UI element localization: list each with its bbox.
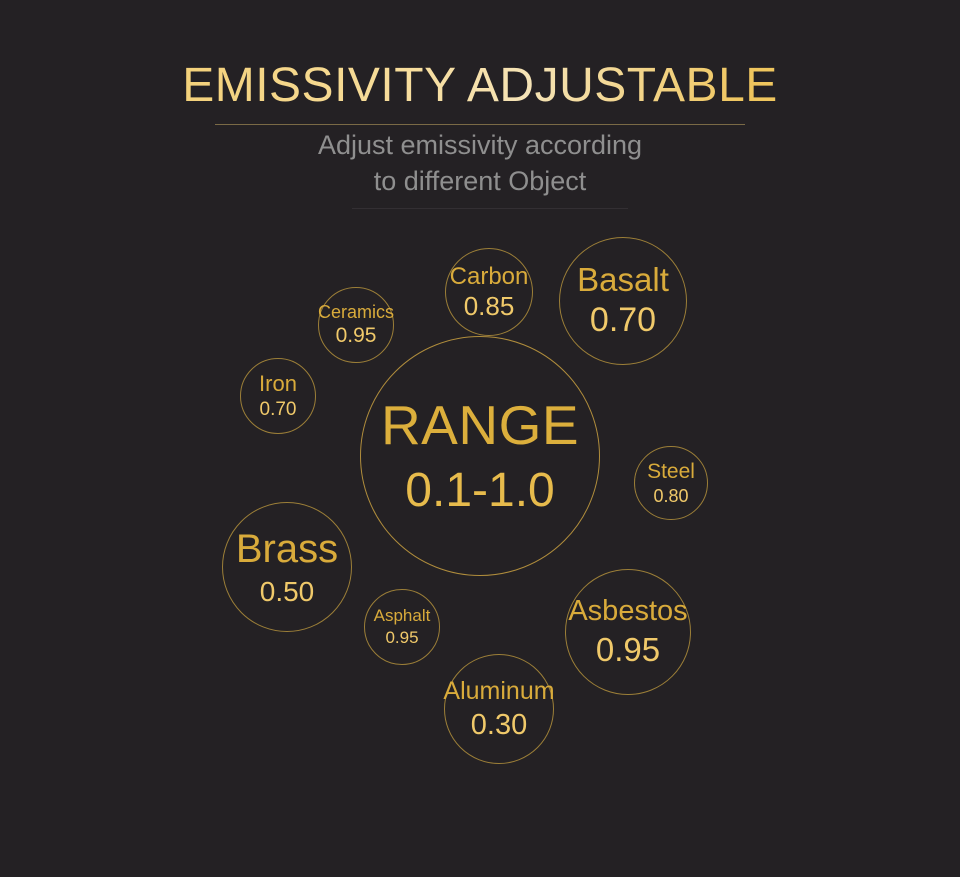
material-bubble-ceramics[interactable]: Ceramics0.95 [318, 287, 394, 363]
material-emissivity-value: 0.30 [471, 710, 527, 740]
material-name: Ceramics [318, 303, 394, 322]
center-range-value: 0.1-1.0 [405, 467, 554, 515]
material-emissivity-value: 0.95 [336, 325, 377, 347]
material-name: Asphalt [374, 607, 431, 625]
page-subtitle: Adjust emissivity according to different… [0, 128, 960, 199]
material-bubble-asphalt[interactable]: Asphalt0.95 [364, 589, 440, 665]
material-emissivity-value: 0.95 [596, 633, 660, 668]
title-divider [215, 124, 745, 125]
material-bubble-carbon[interactable]: Carbon0.85 [445, 248, 533, 336]
material-name: Brass [236, 528, 338, 570]
material-bubble-asbestos[interactable]: Asbestos0.95 [565, 569, 691, 695]
material-name: Aluminum [443, 678, 554, 704]
material-name: Asbestos [568, 596, 687, 626]
material-emissivity-value: 0.80 [653, 487, 688, 506]
subtitle-line-1: Adjust emissivity according [0, 128, 960, 164]
center-range-bubble: RANGE 0.1-1.0 [360, 336, 600, 576]
material-name: Iron [259, 372, 297, 395]
material-emissivity-value: 0.70 [260, 400, 297, 420]
material-emissivity-value: 0.70 [590, 303, 656, 339]
subtitle-divider [352, 208, 628, 209]
infographic-canvas: EMISSIVITY ADJUSTABLE Adjust emissivity … [0, 0, 960, 877]
material-emissivity-value: 0.50 [260, 577, 315, 606]
material-emissivity-value: 0.85 [464, 293, 515, 320]
material-bubble-aluminum[interactable]: Aluminum0.30 [444, 654, 554, 764]
material-name: Steel [647, 461, 695, 483]
material-emissivity-value: 0.95 [385, 629, 418, 647]
material-name: Carbon [450, 264, 529, 289]
material-bubble-brass[interactable]: Brass0.50 [222, 502, 352, 632]
material-name: Basalt [577, 263, 669, 298]
subtitle-line-2: to different Object [0, 164, 960, 200]
material-bubble-basalt[interactable]: Basalt0.70 [559, 237, 687, 365]
center-range-label: RANGE [381, 398, 579, 453]
page-title: EMISSIVITY ADJUSTABLE [0, 62, 960, 110]
material-bubble-iron[interactable]: Iron0.70 [240, 358, 316, 434]
material-bubble-steel[interactable]: Steel0.80 [634, 446, 708, 520]
